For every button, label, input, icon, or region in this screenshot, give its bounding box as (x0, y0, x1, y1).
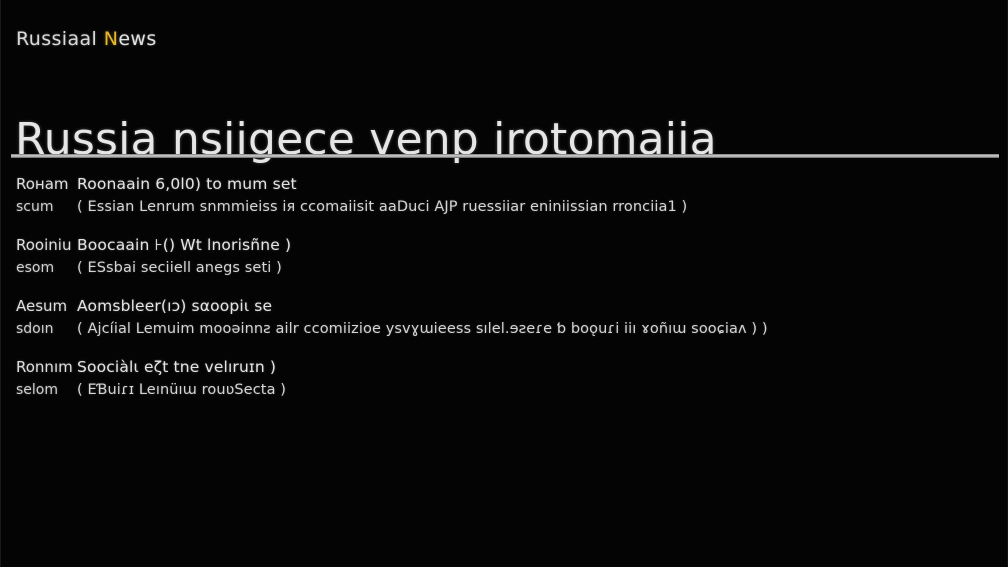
entry-sub-title[interactable]: ( Essian Lenrum snmmieiss iя ccomaiisit … (77, 200, 687, 215)
entry-secondary-line: scum ( Essian Lenrum snmmieiss iя ccomai… (1, 200, 1008, 215)
entry-tag: Ronnım (1, 360, 77, 376)
masthead-news-word: ews (118, 28, 156, 50)
masthead-prefix: Russia (16, 28, 80, 50)
masthead-accent-letter: N (104, 28, 119, 50)
entry-title[interactable]: Aomsbleer(ıɔ) sαoopiι se (77, 298, 272, 314)
masthead-suffix: al (80, 28, 104, 50)
entry-tag: Aesum (1, 299, 77, 315)
entry-sub-tag: sdoın (1, 322, 77, 337)
entry-sub-tag: selom (1, 383, 77, 398)
entry-sub-title[interactable]: ( EƁuiɾɪ Leınüıɯ rouʋSecta ) (77, 383, 286, 398)
entry-secondary-line: selom ( EƁuiɾɪ Leınüıɯ rouʋSecta ) (1, 383, 1008, 398)
entry-primary-line: Aesum Aomsbleer(ıɔ) sαoopiι se (1, 298, 1008, 315)
entry-secondary-line: esom ( ESsbai seciiell anegs seti ) (1, 261, 1008, 276)
list-item[interactable]: Roнam Roonaain 6,0l0) to mum set scum ( … (1, 176, 1008, 215)
entry-title[interactable]: Soociàlι eζt tne velıruɪn ) (77, 359, 276, 375)
list-item[interactable]: Aesum Aomsbleer(ıɔ) sαoopiι se sdoın ( A… (1, 298, 1008, 337)
article-list: Roнam Roonaain 6,0l0) to mum set scum ( … (1, 176, 1008, 420)
news-page: Russiaal News Russia nsiigece venp iroto… (0, 0, 1008, 567)
entry-sub-title[interactable]: ( ESsbai seciiell anegs seti ) (77, 261, 282, 276)
list-item[interactable]: Ronnım Soociàlι eζt tne velıruɪn ) selom… (1, 359, 1008, 398)
entry-primary-line: Rooiniu Boocaain ⊦() Wt lnorisñne ) (1, 237, 1008, 254)
header-divider (11, 154, 999, 158)
entry-primary-line: Ronnım Soociàlι eζt tne velıruɪn ) (1, 359, 1008, 376)
list-item[interactable]: Rooiniu Boocaain ⊦() Wt lnorisñne ) esom… (1, 237, 1008, 276)
entry-sub-title[interactable]: ( Ajcíial Lemuim mooəinnƨ ailr ccomiizio… (77, 322, 768, 337)
masthead: Russiaal News (16, 30, 157, 49)
entry-secondary-line: sdoın ( Ajcíial Lemuim mooəinnƨ ailr cco… (1, 322, 1008, 337)
entry-title[interactable]: Boocaain ⊦() Wt lnorisñne ) (77, 237, 291, 253)
entry-tag: Roнam (1, 177, 77, 193)
entry-sub-tag: esom (1, 261, 77, 276)
entry-title[interactable]: Roonaain 6,0l0) to mum set (77, 176, 297, 192)
entry-sub-tag: scum (1, 200, 77, 215)
entry-tag: Rooiniu (1, 238, 77, 254)
entry-primary-line: Roнam Roonaain 6,0l0) to mum set (1, 176, 1008, 193)
